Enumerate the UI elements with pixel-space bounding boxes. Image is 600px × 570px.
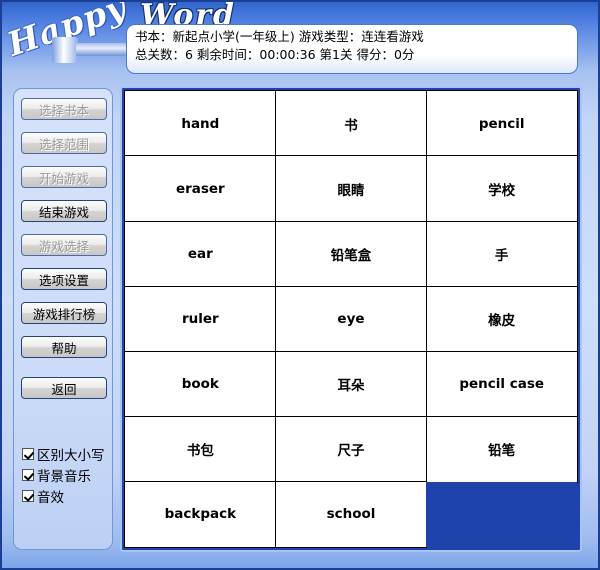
application-window: Happy Word 书本：新起点小学(一年级上) 游戏类型：连连看游戏 总关数… — [0, 0, 600, 570]
game-cell[interactable]: pencil — [426, 90, 578, 157]
game-cell[interactable]: hand — [124, 90, 276, 157]
pencil-eraser-shape — [52, 37, 78, 63]
game-cell[interactable]: school — [275, 481, 427, 548]
game-select-button[interactable]: 游戏选择 — [21, 234, 107, 256]
checkbox-sound-effects-label: 音效 — [37, 486, 64, 506]
back-button[interactable]: 返回 — [21, 377, 107, 399]
game-cell-empty — [426, 482, 577, 547]
game-cell[interactable]: 耳朵 — [275, 351, 427, 418]
checkbox-background-music[interactable]: 背景音乐 — [22, 466, 91, 484]
options-settings-button[interactable]: 选项设置 — [21, 268, 107, 290]
checkmark-icon — [22, 490, 34, 502]
game-cell[interactable]: 铅笔 — [426, 416, 578, 483]
pencil-icon — [52, 37, 126, 63]
checkbox-case-sensitive-label: 区别大小写 — [37, 444, 105, 464]
help-button[interactable]: 帮助 — [21, 336, 107, 358]
game-cell[interactable]: 学校 — [426, 155, 578, 222]
game-cell[interactable]: 手 — [426, 221, 578, 288]
game-cell[interactable]: 橡皮 — [426, 286, 578, 353]
game-cell[interactable]: book — [124, 351, 276, 418]
game-cell[interactable]: pencil case — [426, 351, 578, 418]
game-cell[interactable]: eye — [275, 286, 427, 353]
game-cell[interactable]: backpack — [124, 481, 276, 548]
select-range-button[interactable]: 选择范围 — [21, 132, 107, 154]
checkbox-case-sensitive[interactable]: 区别大小写 — [22, 445, 105, 463]
leaderboard-button[interactable]: 游戏排行榜 — [21, 302, 107, 324]
game-cell[interactable]: 书 — [275, 90, 427, 157]
game-board-grid: hand书pencileraser眼睛学校ear铅笔盒手rulereye橡皮bo… — [125, 91, 577, 547]
checkmark-icon — [22, 469, 34, 481]
info-line-book: 书本：新起点小学(一年级上) 游戏类型：连连看游戏 — [135, 28, 569, 46]
game-cell[interactable]: 眼睛 — [275, 155, 427, 222]
checkbox-background-music-label: 背景音乐 — [37, 465, 91, 485]
end-game-button[interactable]: 结束游戏 — [21, 200, 107, 222]
sidebar-panel: 选择书本 选择范围 开始游戏 结束游戏 游戏选择 选项设置 游戏排行榜 帮助 返… — [13, 88, 113, 550]
game-cell[interactable]: ruler — [124, 286, 276, 353]
pencil-shaft-shape — [76, 43, 126, 56]
game-cell[interactable]: 铅笔盒 — [275, 221, 427, 288]
game-cell[interactable]: 书包 — [124, 416, 276, 483]
select-book-button[interactable]: 选择书本 — [21, 98, 107, 120]
checkmark-icon — [22, 448, 34, 460]
game-cell[interactable]: eraser — [124, 155, 276, 222]
game-cell[interactable]: 尺子 — [275, 416, 427, 483]
game-cell[interactable]: ear — [124, 221, 276, 288]
header-bar: Happy Word 书本：新起点小学(一年级上) 游戏类型：连连看游戏 总关数… — [0, 0, 600, 88]
checkbox-sound-effects[interactable]: 音效 — [22, 487, 64, 505]
start-game-button[interactable]: 开始游戏 — [21, 166, 107, 188]
game-info-panel: 书本：新起点小学(一年级上) 游戏类型：连连看游戏 总关数：6 剩余时间：00:… — [126, 24, 578, 74]
game-board-frame: hand书pencileraser眼睛学校ear铅笔盒手rulereye橡皮bo… — [120, 86, 582, 552]
info-line-status: 总关数：6 剩余时间：00:00:36 第1关 得分：0分 — [135, 46, 569, 64]
